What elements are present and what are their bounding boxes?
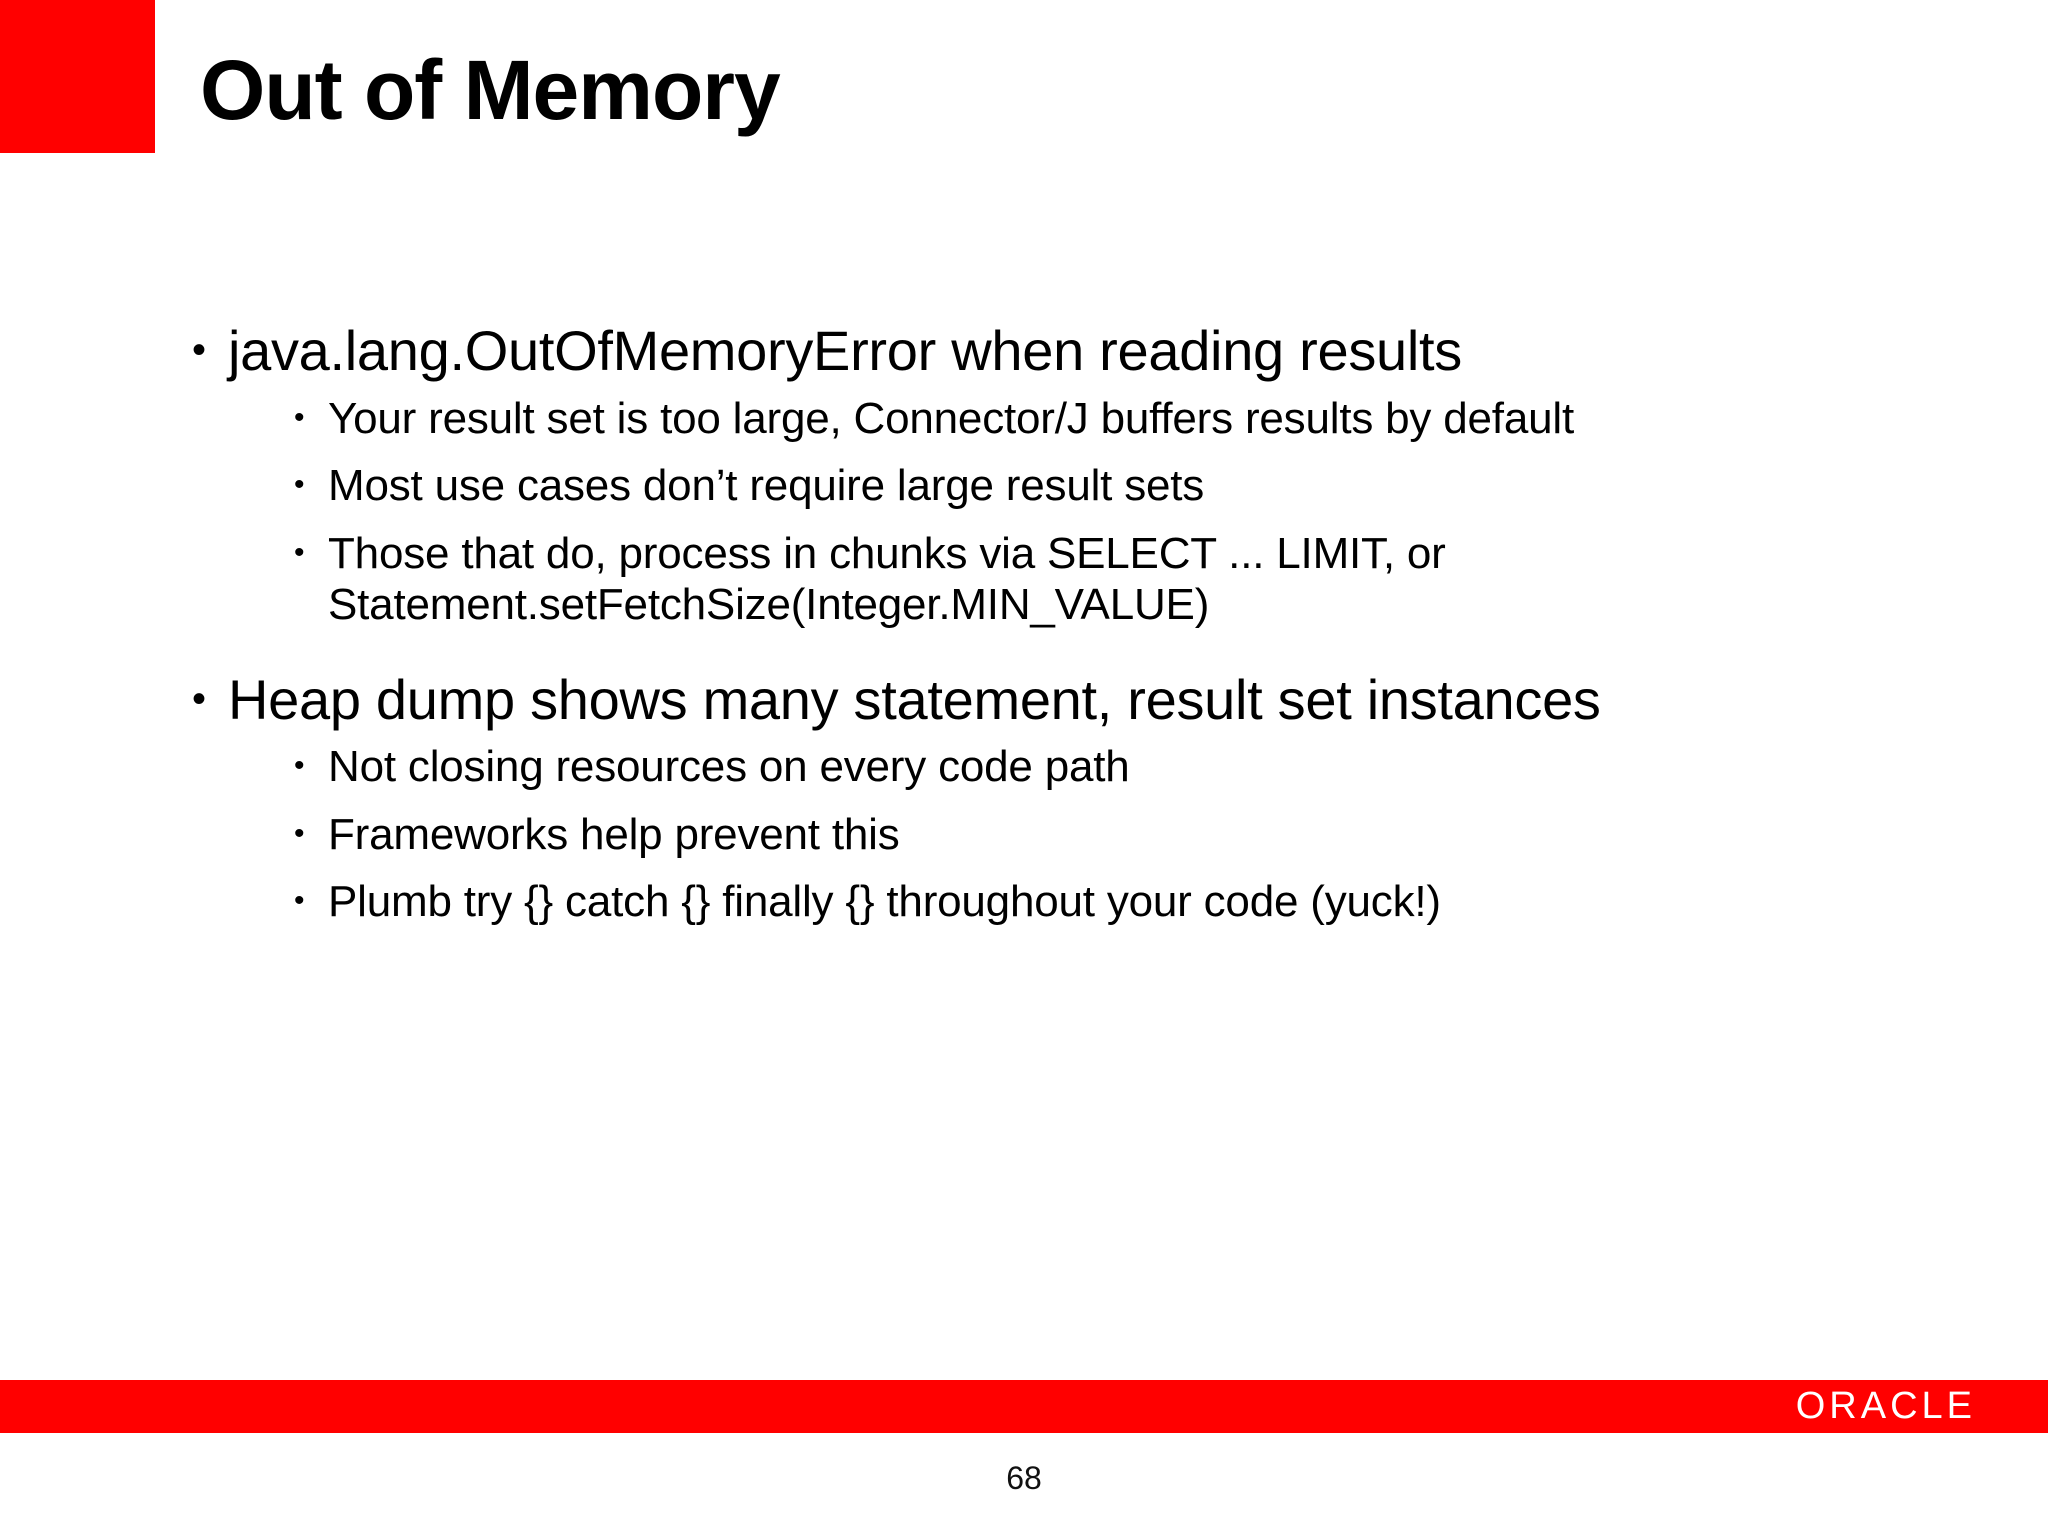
sub-bullet-item-1-1: • Your result set is too large, Connecto…: [292, 393, 1890, 444]
slide: Out of Memory • java.lang.OutOfMemoryErr…: [0, 0, 2048, 1536]
bullet-item-1-text: java.lang.OutOfMemoryError when reading …: [228, 319, 1462, 382]
sub-bullet-item-2-3-text: Plumb try {} catch {} finally {} through…: [328, 877, 1441, 926]
sub-bullet-item-2-3: • Plumb try {} catch {} finally {} throu…: [292, 876, 1890, 927]
sub-bullet-dot-icon: •: [294, 876, 304, 926]
slide-title: Out of Memory: [200, 48, 780, 132]
bullet-item-2: • Heap dump shows many statement, result…: [190, 669, 1890, 732]
sub-bullet-item-1-2: • Most use cases don’t require large res…: [292, 460, 1890, 511]
oracle-logo: ORACLE: [1796, 1386, 1976, 1426]
sub-bullet-item-2-1-text: Not closing resources on every code path: [328, 742, 1130, 791]
page-number: 68: [0, 1460, 2048, 1497]
content-spacer: [190, 647, 1890, 669]
sub-bullet-dot-icon: •: [294, 393, 304, 443]
bullet-list-level2-group2: • Not closing resources on every code pa…: [190, 741, 1890, 927]
bullet-item-2-text: Heap dump shows many statement, result s…: [228, 668, 1601, 731]
bullet-dot-icon: •: [192, 320, 206, 381]
sub-bullet-item-1-3-text: Those that do, process in chunks via SEL…: [328, 529, 1446, 629]
sub-bullet-dot-icon: •: [294, 460, 304, 510]
bullet-item-1: • java.lang.OutOfMemoryError when readin…: [190, 320, 1890, 383]
sub-bullet-item-2-2: • Frameworks help prevent this: [292, 809, 1890, 860]
slide-body: • java.lang.OutOfMemoryError when readin…: [190, 320, 1890, 944]
sub-bullet-item-1-2-text: Most use cases don’t require large resul…: [328, 461, 1204, 510]
bullet-dot-icon: •: [192, 669, 206, 730]
bullet-list-level1: • java.lang.OutOfMemoryError when readin…: [190, 320, 1890, 928]
bullet-list-level2-group1: • Your result set is too large, Connecto…: [190, 393, 1890, 631]
sub-bullet-item-1-3: • Those that do, process in chunks via S…: [292, 528, 1890, 631]
sub-bullet-item-1-1-text: Your result set is too large, Connector/…: [328, 394, 1574, 443]
sub-bullet-dot-icon: •: [294, 809, 304, 859]
sub-bullet-dot-icon: •: [294, 741, 304, 791]
sub-bullet-dot-icon: •: [294, 528, 304, 578]
footer-bar: [0, 1380, 2048, 1433]
sub-bullet-item-2-1: • Not closing resources on every code pa…: [292, 741, 1890, 792]
sub-bullet-item-2-2-text: Frameworks help prevent this: [328, 810, 900, 859]
decorative-red-square: [0, 0, 155, 153]
oracle-wordmark: ORACLE: [1796, 1385, 1976, 1428]
